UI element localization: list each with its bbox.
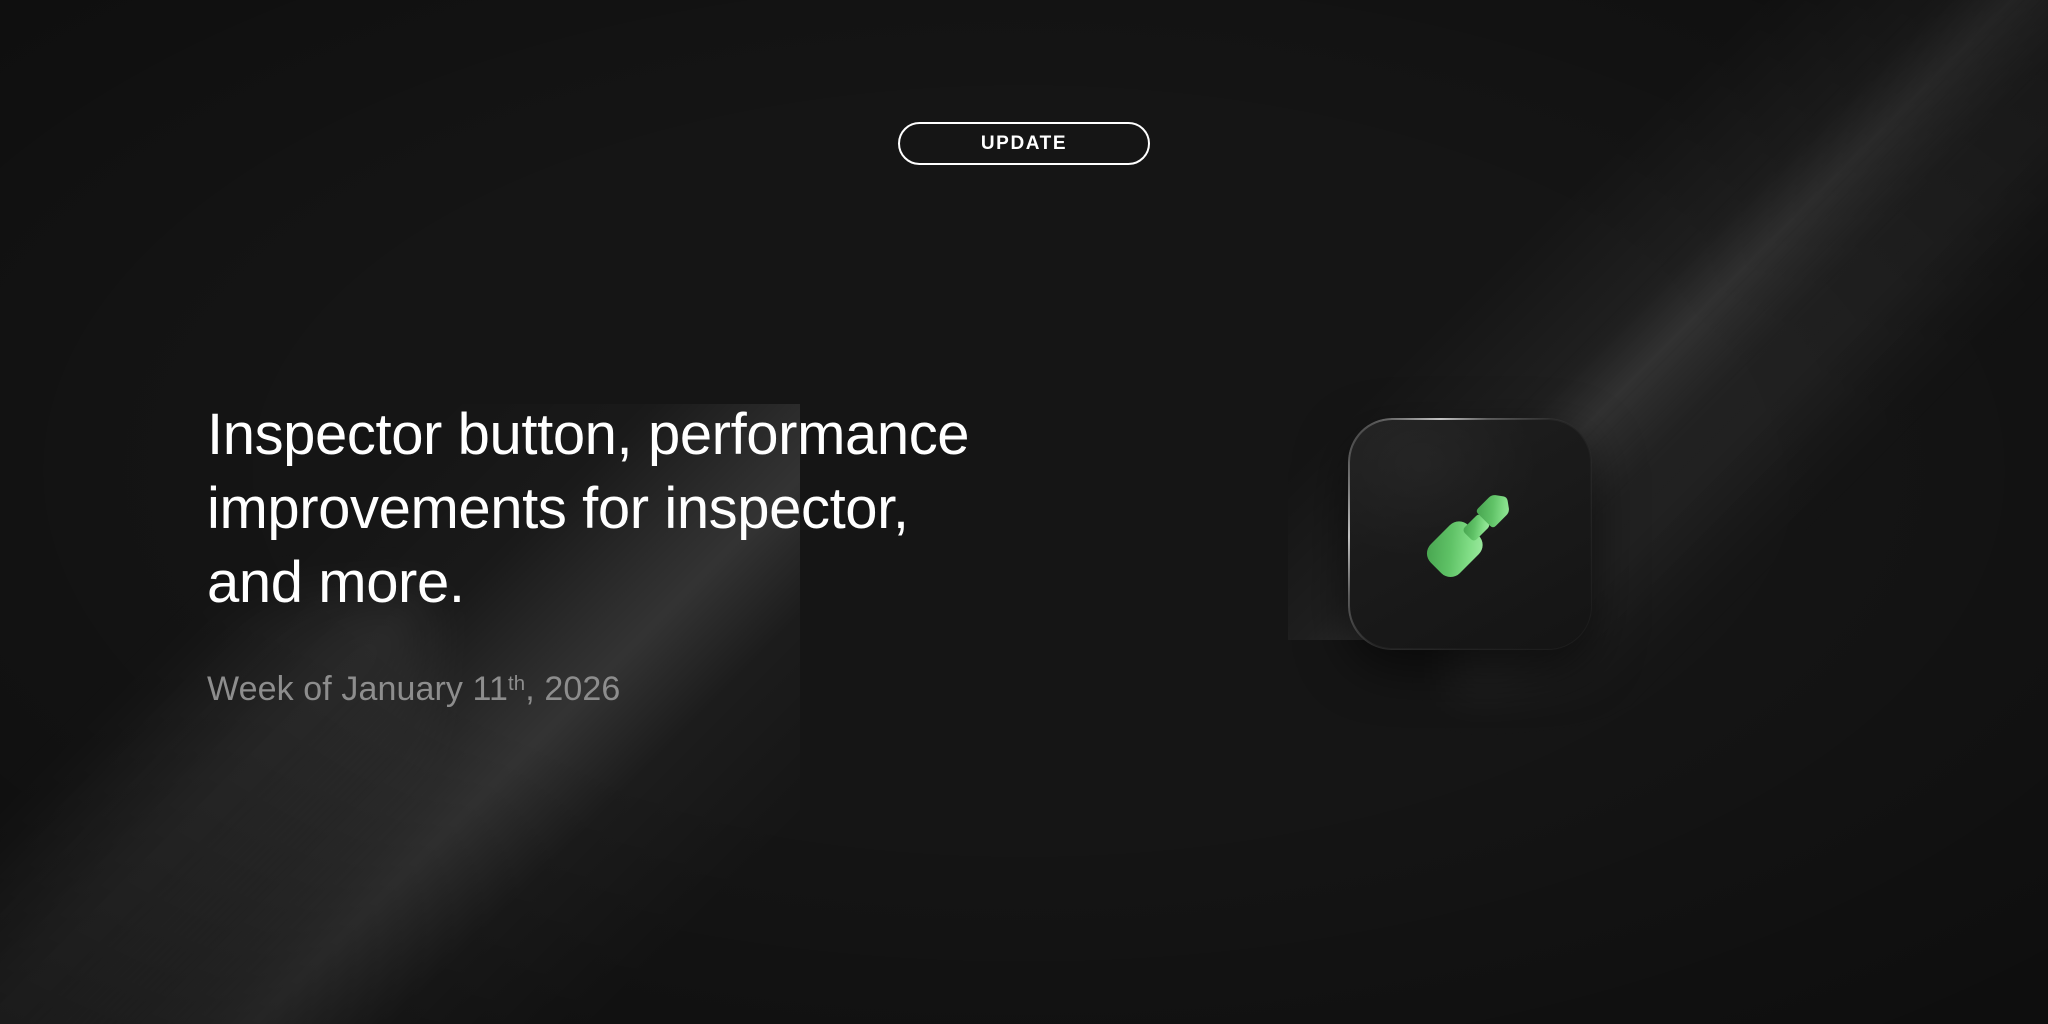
page-title: Inspector button, performance improvemen… — [207, 398, 1137, 620]
hero-copy: Inspector button, performance improvemen… — [207, 398, 1137, 706]
release-date-suffix: , 2026 — [525, 672, 620, 706]
screwdriver-icon — [1405, 469, 1535, 599]
release-date-ordinal-suffix: th — [508, 674, 525, 694]
icon-card — [1348, 418, 1592, 650]
release-date: Week of January 11th, 2026 — [207, 672, 1137, 706]
release-date-prefix: Week of January 11 — [207, 672, 508, 706]
update-badge[interactable]: UPDATE — [898, 122, 1150, 165]
update-announcement-banner: UPDATE Inspector button, performance imp… — [0, 0, 2048, 1024]
update-badge-label: UPDATE — [981, 134, 1067, 153]
